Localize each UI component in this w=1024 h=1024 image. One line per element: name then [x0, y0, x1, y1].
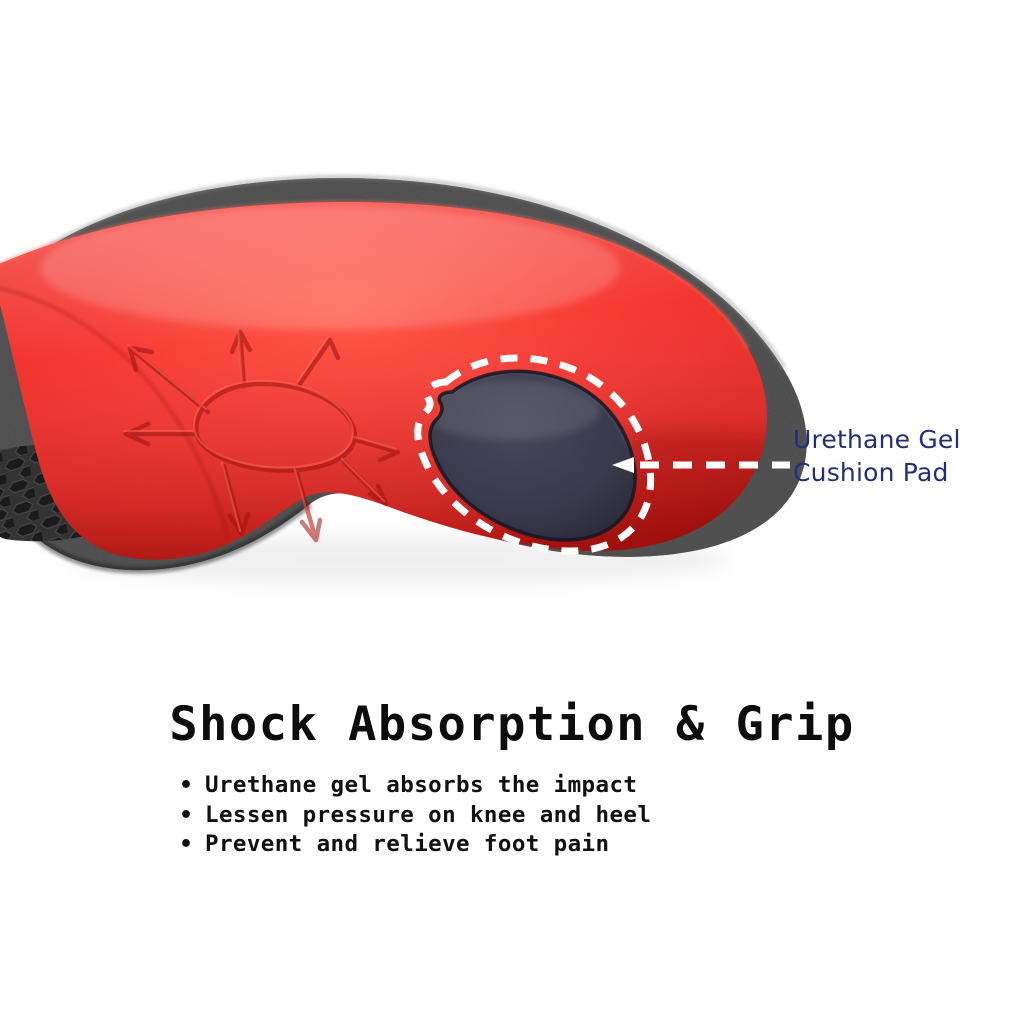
text-block: Shock Absorption & Grip • Urethane gel a… — [0, 700, 1024, 860]
callout-label: Urethane Gel Cushion Pad — [793, 424, 1018, 489]
product-illustration: Urethane Gel Cushion Pad — [0, 0, 1024, 660]
bullet-icon: • — [179, 771, 193, 801]
benefit-list: • Urethane gel absorbs the impact • Less… — [0, 771, 1024, 860]
callout-label-line-1: Urethane Gel — [793, 424, 1018, 457]
infographic-page: Urethane Gel Cushion Pad Shock Absorptio… — [0, 0, 1024, 1024]
callout-label-line-2: Cushion Pad — [793, 457, 1018, 490]
benefit-item: • Lessen pressure on knee and heel — [175, 801, 1024, 831]
bullet-icon: • — [179, 801, 193, 831]
benefit-text: Urethane gel absorbs the impact — [205, 772, 637, 798]
benefit-item: • Prevent and relieve foot pain — [175, 830, 1024, 860]
insole-diagram — [0, 0, 1024, 660]
benefit-item: • Urethane gel absorbs the impact — [175, 771, 1024, 801]
benefit-text: Prevent and relieve foot pain — [205, 831, 609, 857]
benefit-text: Lessen pressure on knee and heel — [205, 802, 651, 828]
headline: Shock Absorption & Grip — [0, 700, 1024, 749]
bullet-icon: • — [179, 830, 193, 860]
